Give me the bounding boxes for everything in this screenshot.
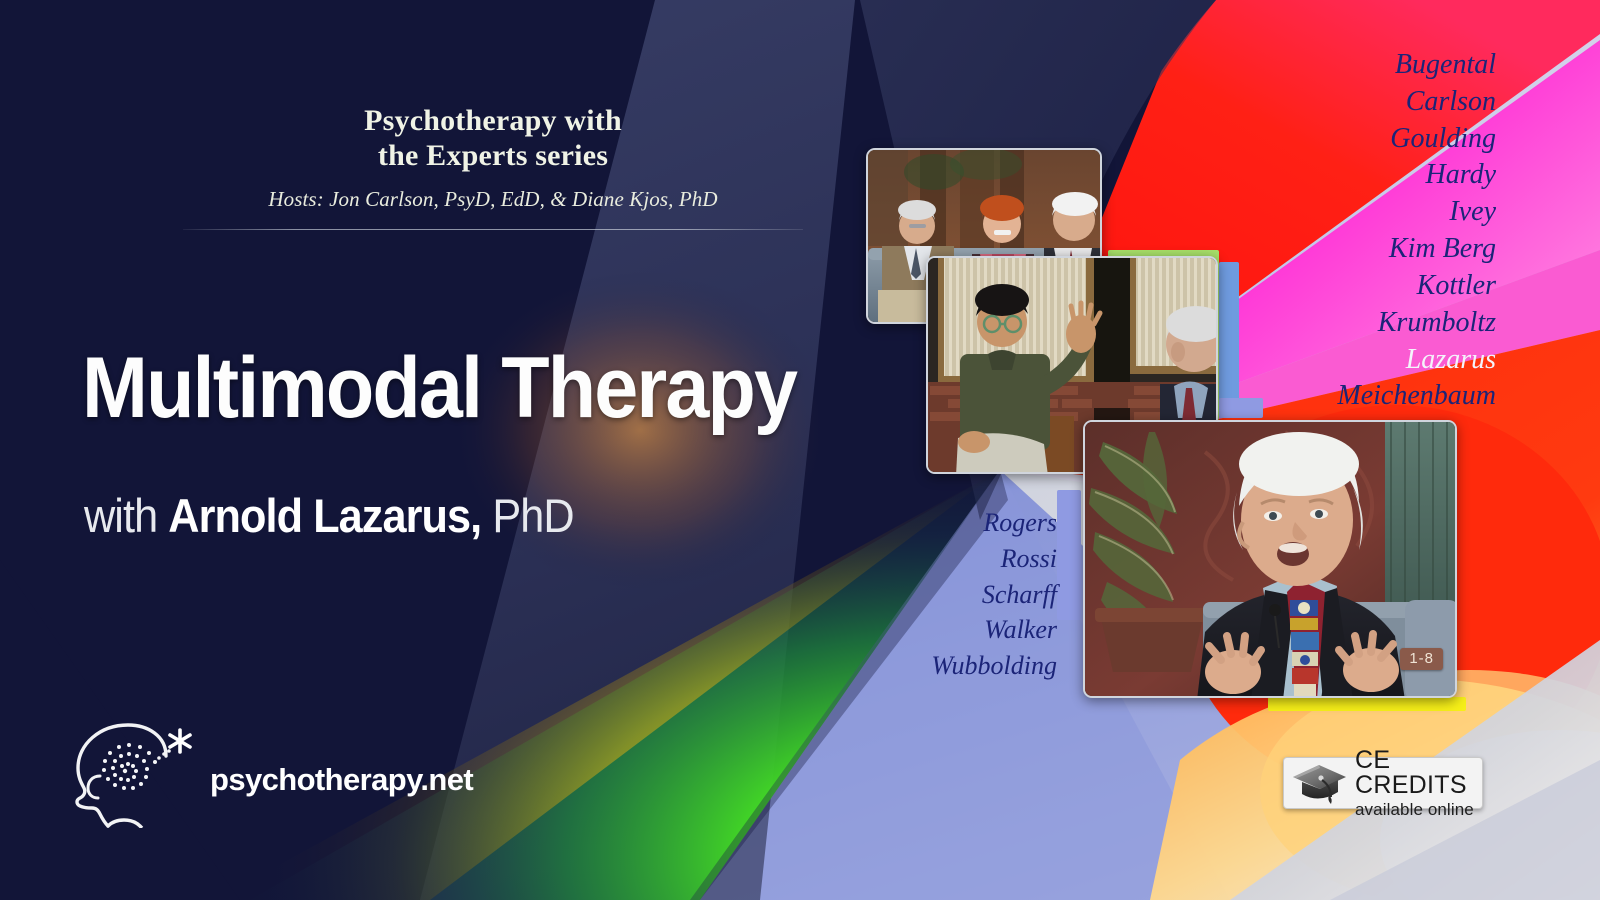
expert-list-lower: Rogers Rossi Scharff Walker Wubbolding xyxy=(817,505,1057,684)
expert-name: Hardy xyxy=(1337,157,1496,194)
head-with-spiral-brain-icon xyxy=(70,722,220,828)
ce-credits-badge[interactable]: CE CREDITS available online xyxy=(1283,757,1483,809)
dvd-cover-artwork: 1-8 Psychotherapy with the Experts serie… xyxy=(0,0,1600,900)
graduation-cap-icon xyxy=(1289,761,1349,805)
accent-bar-periwinkle xyxy=(1219,398,1263,418)
expert-name-highlighted: Lazarus xyxy=(1337,342,1496,379)
expert-name: Kottler xyxy=(1337,268,1496,305)
photo-arnold-lazarus[interactable]: 1-8 xyxy=(1083,420,1457,698)
expert-name: Bugental xyxy=(1337,47,1496,84)
series-title: Psychotherapy with the Experts series xyxy=(183,103,803,174)
expert-name: Scharff xyxy=(817,577,1057,613)
page-title: Multimodal Therapy xyxy=(82,347,744,430)
expert-name: Carlson xyxy=(1337,84,1496,121)
photo-segment-chip: 1-8 xyxy=(1400,648,1443,670)
expert-name: Rossi xyxy=(817,541,1057,577)
expert-name: Kim Berg xyxy=(1337,231,1496,268)
brand-logo[interactable]: psychotherapy.net xyxy=(70,722,400,828)
brand-wordmark: psychotherapy.net xyxy=(210,762,473,798)
expert-list-right: Bugental Carlson Goulding Hardy Ivey Kim… xyxy=(1337,47,1496,415)
expert-name: Meichenbaum xyxy=(1337,378,1496,415)
series-hosts: Hosts: Jon Carlson, PsyD, EdD, & Diane K… xyxy=(183,187,803,212)
ce-badge-line2: available online xyxy=(1355,801,1475,818)
divider-rule xyxy=(183,229,803,230)
accent-bar-yellow xyxy=(1268,697,1466,711)
presenter-credential: PhD xyxy=(481,489,573,542)
expert-name: Wubbolding xyxy=(817,648,1057,684)
expert-name: Goulding xyxy=(1337,121,1496,158)
series-title-line1: Psychotherapy with xyxy=(364,104,622,137)
expert-name: Ivey xyxy=(1337,194,1496,231)
accent-bar-blue-vertical xyxy=(1219,262,1239,414)
ce-badge-line1: CE CREDITS xyxy=(1355,748,1475,798)
series-header: Psychotherapy with the Experts series Ho… xyxy=(183,103,803,230)
presenter-name: Arnold Lazarus, xyxy=(168,489,481,542)
accent-bar-periwinkle-vertical xyxy=(1057,490,1081,620)
series-title-line2: the Experts series xyxy=(378,139,608,172)
presenter-line: with Arnold Lazarus, PhD xyxy=(84,492,783,539)
expert-name: Rogers xyxy=(817,505,1057,541)
expert-name: Krumboltz xyxy=(1337,305,1496,342)
presenter-with-label: with xyxy=(84,489,168,542)
expert-name: Walker xyxy=(817,612,1057,648)
asterisk-icon xyxy=(170,730,190,752)
